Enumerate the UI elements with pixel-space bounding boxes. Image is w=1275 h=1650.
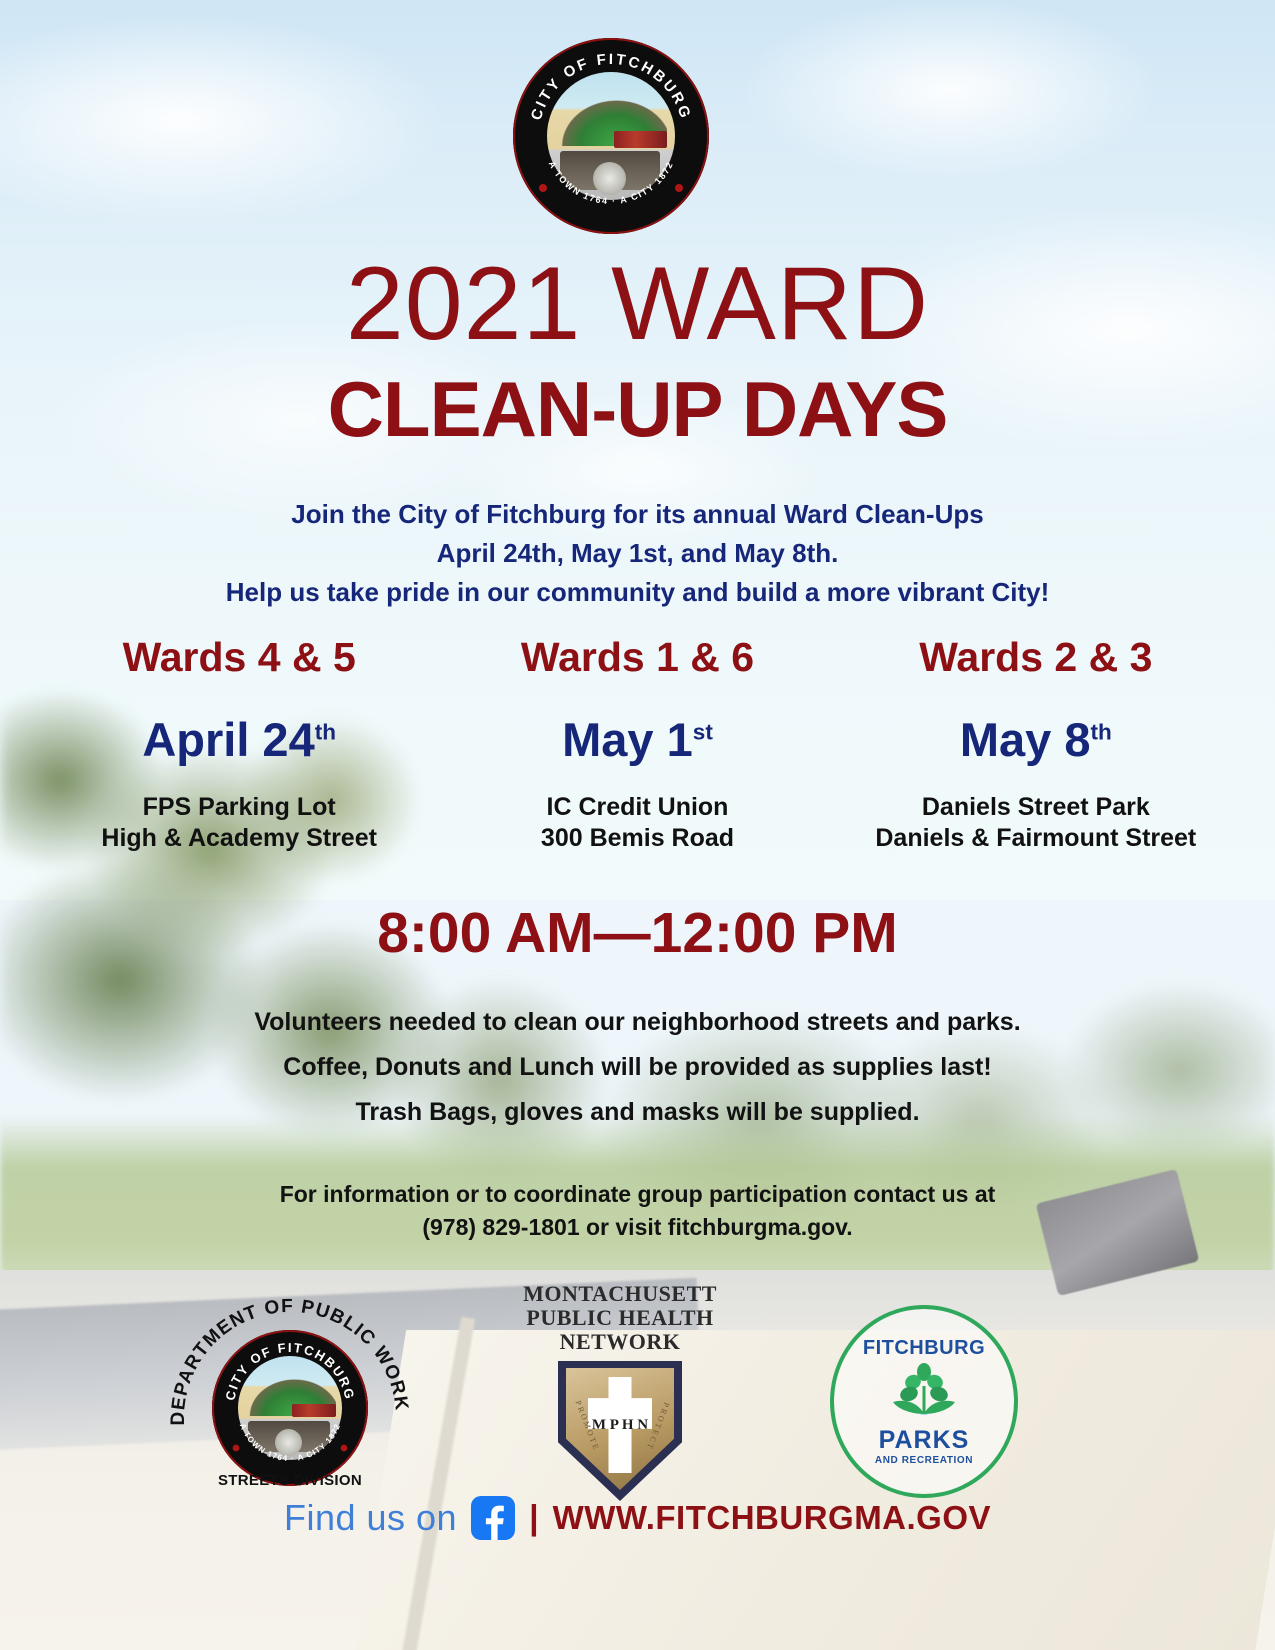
event-details: Volunteers needed to clean our neighborh… (0, 1000, 1275, 1135)
ward-location-line1: FPS Parking Lot (40, 792, 438, 823)
tree-icon (887, 1362, 961, 1424)
event-time: 8:00 AM—12:00 PM (0, 905, 1275, 962)
subtitle-line-1: Join the City of Fitchburg for its annua… (0, 495, 1275, 534)
dpw-caption: STREETS DIVISION (170, 1472, 410, 1489)
mphn-word-protect: PROTECT (644, 1401, 671, 1452)
ward-date-suffix: th (1091, 719, 1112, 744)
ward-location: Daniels Street Park Daniels & Fairmount … (837, 792, 1235, 854)
ward-location-line1: Daniels Street Park (837, 792, 1235, 823)
ward-date-main: May 1 (562, 713, 693, 766)
ward-date: May 8th (837, 715, 1235, 764)
ward-location: FPS Parking Lot High & Academy Street (40, 792, 438, 854)
poster-subtitle: Join the City of Fitchburg for its annua… (0, 495, 1275, 612)
ward-date-suffix: th (315, 719, 336, 744)
detail-line-1: Volunteers needed to clean our neighborh… (0, 1000, 1275, 1045)
ward-date-suffix: st (693, 719, 713, 744)
parks-main-label: PARKS (879, 1426, 970, 1455)
mphn-name: MONTACHUSETT PUBLIC HEALTH NETWORK (510, 1282, 730, 1354)
detail-line-3: Trash Bags, gloves and masks will be sup… (0, 1090, 1275, 1135)
poster-title-line2: CLEAN-UP DAYS (0, 370, 1275, 448)
find-us-label: Find us on (284, 1497, 457, 1539)
svg-text:A TOWN 1764 · A CITY 1872: A TOWN 1764 · A CITY 1872 (547, 159, 676, 206)
mphn-logo: MONTACHUSETT PUBLIC HEALTH NETWORK M P H… (510, 1282, 730, 1482)
ward-location-line2: High & Academy Street (40, 823, 438, 854)
mphn-shield-lettering: PREVENT PROMOTE PROTECT (558, 1361, 682, 1501)
ward-date-main: April 24 (142, 713, 314, 766)
website-url[interactable]: WWW.FITCHBURGMA.GOV (553, 1499, 991, 1537)
ward-location-line1: IC Credit Union (438, 792, 836, 823)
mphn-name-line3: NETWORK (510, 1330, 730, 1354)
svg-text:CITY OF FITCHBURG: CITY OF FITCHBURG (222, 1340, 357, 1402)
svg-text:A TOWN 1764 · A CITY 1872: A TOWN 1764 · A CITY 1872 (238, 1422, 343, 1463)
svg-text:PROMOTE: PROMOTE (574, 1399, 602, 1452)
ward-column-3: Wards 2 & 3 May 8th Daniels Street Park … (837, 636, 1235, 854)
ward-location-line2: 300 Bemis Road (438, 823, 836, 854)
social-footer: Find us on | WWW.FITCHBURGMA.GOV (0, 1496, 1275, 1540)
subtitle-line-3: Help us take pride in our community and … (0, 573, 1275, 612)
mphn-name-line2: PUBLIC HEALTH (510, 1306, 730, 1330)
seal-top-text: CITY OF FITCHBURG (528, 51, 694, 122)
dpw-inner-seal: CITY OF FITCHBURG A TOWN 1764 · A CITY 1… (212, 1330, 368, 1486)
ward-date: April 24th (40, 715, 438, 764)
facebook-icon[interactable] (471, 1496, 515, 1540)
dpw-seal-lettering: CITY OF FITCHBURG A TOWN 1764 · A CITY 1… (212, 1330, 368, 1486)
ward-date: May 1st (438, 715, 836, 764)
detail-line-2: Coffee, Donuts and Lunch will be provide… (0, 1045, 1275, 1090)
contact-line-2: (978) 829-1801 or visit fitchburgma.gov. (0, 1211, 1275, 1244)
seal-bottom-text: A TOWN 1764 · A CITY 1872 (547, 159, 676, 206)
contact-line-1: For information or to coordinate group p… (0, 1178, 1275, 1211)
ward-location: IC Credit Union 300 Bemis Road (438, 792, 836, 854)
parks-city-label: FITCHBURG (863, 1337, 985, 1360)
mphn-name-line1: MONTACHUSETT (510, 1282, 730, 1306)
ward-column-2: Wards 1 & 6 May 1st IC Credit Union 300 … (438, 636, 836, 854)
ward-column-1: Wards 4 & 5 April 24th FPS Parking Lot H… (40, 636, 438, 854)
ward-columns: Wards 4 & 5 April 24th FPS Parking Lot H… (40, 636, 1235, 854)
poster-title-line1: 2021 WARD (0, 252, 1275, 356)
parks-sub-label: AND RECREATION (875, 1455, 973, 1466)
ward-label: Wards 1 & 6 (438, 636, 836, 679)
city-seal-logo: CITY OF FITCHBURG A TOWN 1764 · A CITY 1… (513, 38, 709, 234)
mphn-shield-icon: M P H N PREVENT PROMOTE P (558, 1361, 682, 1501)
ward-date-main: May 8 (960, 713, 1091, 766)
background-curb (354, 1330, 1275, 1650)
ward-label: Wards 4 & 5 (40, 636, 438, 679)
poster-canvas: CITY OF FITCHBURG A TOWN 1764 · A CITY 1… (0, 0, 1275, 1650)
ward-location-line2: Daniels & Fairmount Street (837, 823, 1235, 854)
mphn-word-promote: PROMOTE (574, 1399, 602, 1452)
seal-lettering: CITY OF FITCHBURG A TOWN 1764 · A CITY 1… (513, 38, 709, 234)
separator-pipe: | (529, 1499, 539, 1538)
contact-info: For information or to coordinate group p… (0, 1178, 1275, 1244)
svg-text:PROTECT: PROTECT (644, 1401, 671, 1452)
parks-recreation-logo: FITCHBURG PARKS AND RECREATION (830, 1305, 1018, 1498)
dpw-seal-bottom-text: A TOWN 1764 · A CITY 1872 (238, 1422, 343, 1463)
dpw-seal-top-text: CITY OF FITCHBURG (222, 1340, 357, 1402)
svg-text:CITY OF FITCHBURG: CITY OF FITCHBURG (528, 51, 694, 122)
subtitle-line-2: April 24th, May 1st, and May 8th. (0, 534, 1275, 573)
ward-label: Wards 2 & 3 (837, 636, 1235, 679)
